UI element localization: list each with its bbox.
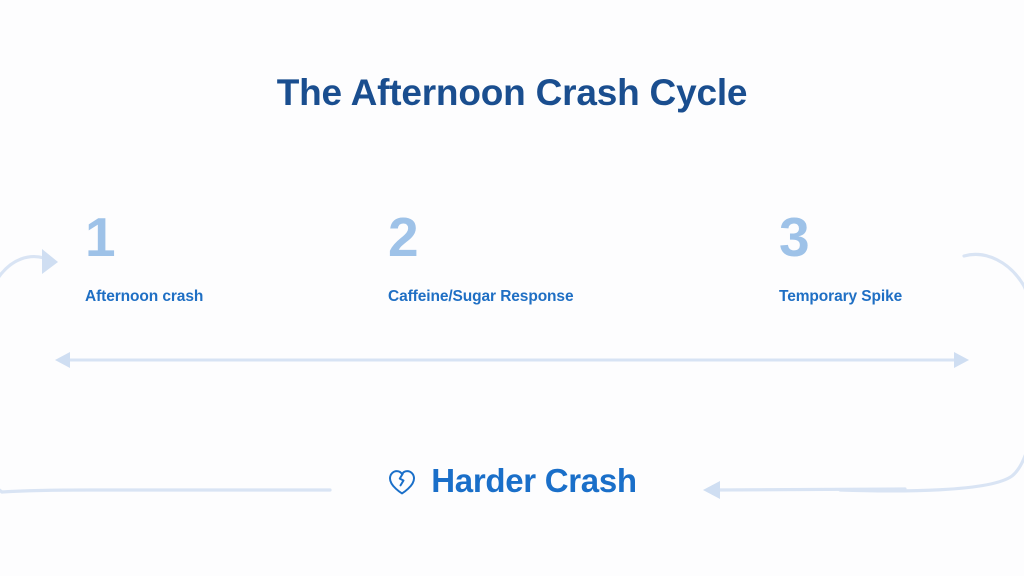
outcome-label: Harder Crash [431,464,637,497]
step-1-label: Afternoon crash [85,288,203,306]
page-title: The Afternoon Crash Cycle [0,72,1024,115]
step-1-number: 1 [85,210,203,270]
curved-loop-arrow-right-lower [840,286,1024,491]
broken-heart-icon [387,467,417,497]
loop-left-arrowhead-icon [42,249,58,274]
step-2-label: Caffeine/Sugar Response [388,288,573,306]
step-3-number: 3 [779,210,902,270]
step-2-number: 2 [388,210,573,270]
cycle-outcome: Harder Crash [0,464,1024,497]
curved-loop-arrow-left [0,257,44,492]
progress-arrow-head-right-icon [954,352,969,368]
curved-loop-arrow-right [964,254,1024,286]
slide-canvas: The Afternoon Crash Cycle 1 Afternoon cr… [0,0,1024,576]
step-3-label: Temporary Spike [779,288,902,306]
cycle-step-1: 1 Afternoon crash [85,210,203,306]
progress-arrow-head-left-icon [55,352,70,368]
cycle-step-3: 3 Temporary Spike [779,210,902,306]
cycle-step-2: 2 Caffeine/Sugar Response [388,210,573,306]
